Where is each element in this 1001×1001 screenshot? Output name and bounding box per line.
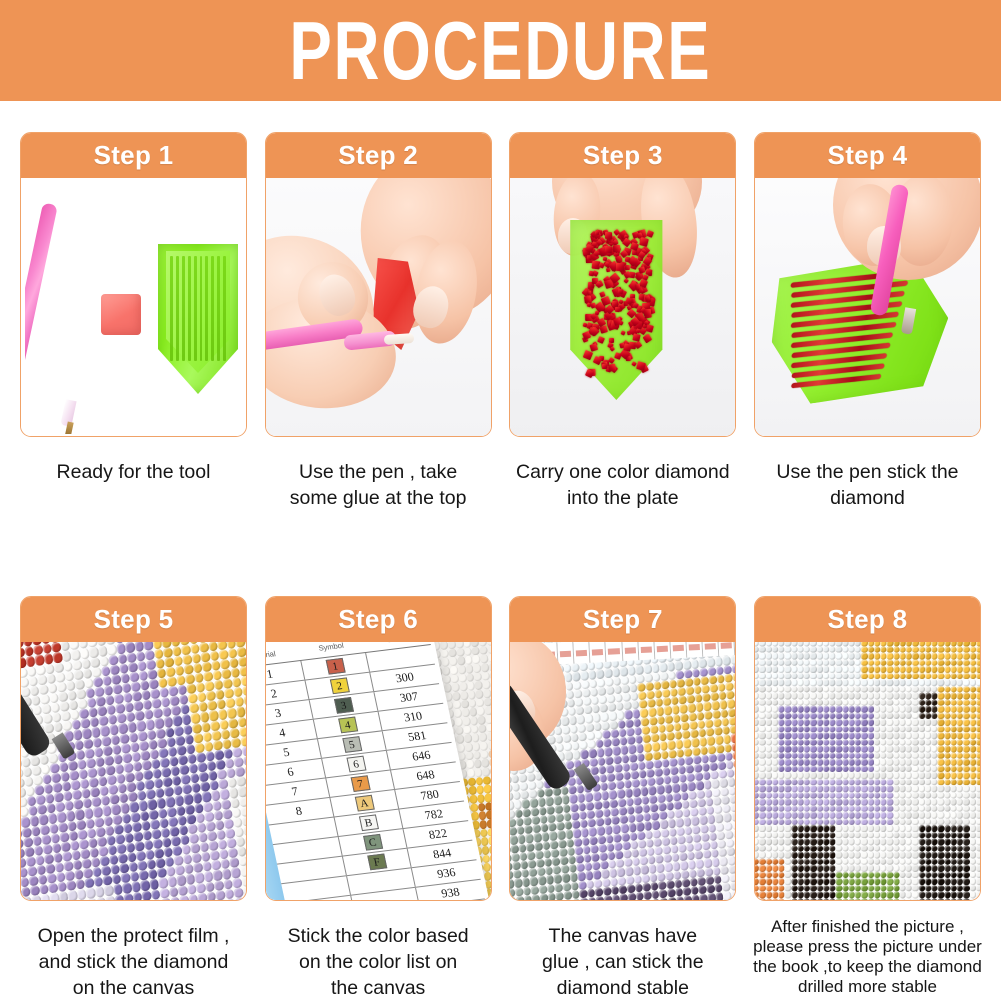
step-photo-7: [510, 642, 735, 901]
step-cell-3: Step 3 Carry one color diamondinto the p…: [509, 132, 736, 512]
step-title-8: Step 8: [755, 597, 980, 642]
step-photo-3: [510, 178, 735, 437]
step-card-3[interactable]: Step 3: [509, 132, 736, 437]
step-cell-1: Step 1 Read: [20, 132, 247, 512]
page-title: PROCEDURE: [289, 9, 711, 92]
step-cell-5: Step 5 Open the protect film ,and stick …: [20, 596, 247, 1001]
step-photo-2: [266, 178, 491, 437]
procedure-infographic: PROCEDURE Step 1: [0, 0, 1001, 1001]
step-caption-5: Open the protect film ,and stick the dia…: [14, 923, 254, 1001]
step-photo-6: Serial Symbol DMC 1122300333074431055581…: [266, 642, 491, 901]
step-photo-8: [755, 642, 980, 901]
step-caption-4: Use the pen stick thediamond: [747, 459, 987, 512]
step-caption-7: The canvas haveglue , can stick thediamo…: [503, 923, 743, 1001]
steps-row-2: Step 5 Open the protect film ,and stick …: [0, 596, 1001, 1001]
step-title-6: Step 6: [266, 597, 491, 642]
step-card-7[interactable]: Step 7: [509, 596, 736, 901]
step-caption-3: Carry one color diamondinto the plate: [503, 459, 743, 512]
step-caption-6: Stick the color basedon the color list o…: [258, 923, 498, 1001]
step-title-1: Step 1: [21, 133, 246, 178]
finished-diamond-painting: [755, 642, 980, 901]
step-cell-8: Step 8 After finished the picture ,pleas…: [754, 596, 981, 1001]
step-card-1[interactable]: Step 1: [20, 132, 247, 437]
step-cell-2: Step 2: [265, 132, 492, 512]
step-cell-7: Step 7 The canvas haveglue ,: [509, 596, 736, 1001]
step-title-5: Step 5: [21, 597, 246, 642]
step-photo-5: [21, 642, 246, 901]
step-cell-4: Step 4 Use the pen stick thediamond: [754, 132, 981, 512]
step-card-2[interactable]: Step 2: [265, 132, 492, 437]
pen-tip-icon: [383, 333, 414, 345]
step-title-7: Step 7: [510, 597, 735, 642]
diamond-canvas-mosaic: [21, 642, 246, 901]
step-caption-8: After finished the picture ,please press…: [742, 917, 992, 997]
red-diamond-beads: [582, 230, 654, 375]
steps-row-1: Step 1 Read: [0, 132, 1001, 512]
green-tray-icon: [158, 244, 238, 394]
step-caption-1: Ready for the tool: [14, 459, 254, 485]
step-title-3: Step 3: [510, 133, 735, 178]
step-photo-4: [755, 178, 980, 437]
col-header-symbol: Symbol: [297, 642, 364, 655]
step-cell-6: Step 6 Serial Symbol DMC: [265, 596, 492, 1001]
header-bar: PROCEDURE: [0, 0, 1001, 101]
step-caption-2: Use the pen , takesome glue at the top: [258, 459, 498, 512]
step-title-2: Step 2: [266, 133, 491, 178]
aligned-bead-rows: [775, 265, 940, 395]
step-card-4[interactable]: Step 4: [754, 132, 981, 437]
glue-square-icon: [101, 294, 141, 335]
col-header-serial: Serial: [266, 646, 299, 663]
step-card-5[interactable]: Step 5: [20, 596, 247, 901]
step-card-8[interactable]: Step 8: [754, 596, 981, 901]
step-card-6[interactable]: Step 6 Serial Symbol DMC: [265, 596, 492, 901]
step-photo-1: [21, 178, 246, 437]
step-title-4: Step 4: [755, 133, 980, 178]
